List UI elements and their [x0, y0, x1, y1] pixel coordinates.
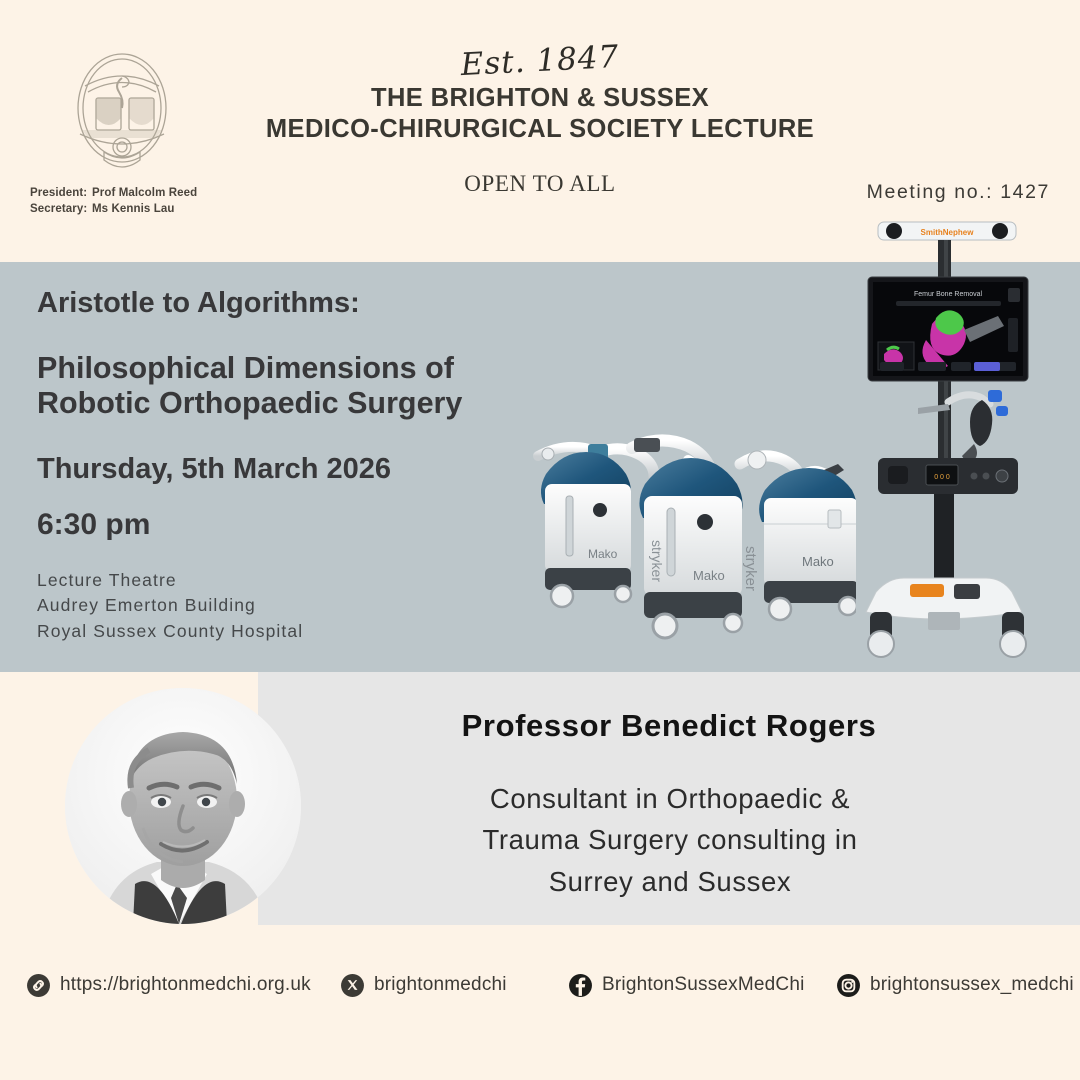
venue-line-3: Royal Sussex County Hospital	[37, 619, 537, 644]
lecture-poster: President: Prof Malcolm Reed Secretary: …	[0, 0, 1080, 1080]
society-line-1: THE BRIGHTON & SUSSEX	[260, 83, 820, 114]
facebook-label: BrightonSussexMedChi	[602, 974, 805, 996]
lecture-venue: Lecture Theatre Audrey Emerton Building …	[37, 568, 537, 644]
svg-text:Mako: Mako	[693, 568, 725, 583]
lecture-title-line-3: Robotic Orthopaedic Surgery	[37, 386, 537, 421]
society-title-block: Est. 1847 THE BRIGHTON & SUSSEX MEDICO-C…	[260, 46, 820, 197]
instagram-label: brightonsussex_medchi	[870, 974, 1074, 996]
website-link[interactable]: https://brightonmedchi.org.uk	[26, 973, 311, 998]
crest-block: President: Prof Malcolm Reed Secretary: …	[30, 42, 250, 218]
svg-text:Femur Bone Removal: Femur Bone Removal	[914, 291, 983, 298]
venue-line-1: Lecture Theatre	[37, 568, 537, 593]
officer-name: Ms Kennis Lau	[92, 202, 250, 218]
society-crest-icon	[52, 42, 192, 182]
officer-label: Secretary:	[30, 202, 92, 218]
officer-row: President: Prof Malcolm Reed	[30, 186, 250, 202]
meeting-number: Meeting no.: 1427	[867, 181, 1050, 204]
officer-name: Prof Malcolm Reed	[92, 186, 250, 202]
robotic-surgical-units-image: Mako Mako	[528, 418, 873, 672]
facebook-icon	[568, 973, 593, 998]
x-icon	[340, 973, 365, 998]
officer-row: Secretary: Ms Kennis Lau	[30, 202, 250, 218]
svg-text:Mako: Mako	[588, 547, 618, 561]
speaker-role: Consultant in Orthopaedic & Trauma Surge…	[300, 778, 1040, 902]
svg-text:SmithNephew: SmithNephew	[921, 228, 975, 237]
poster-footer: https://brightonmedchi.org.uk brightonme…	[0, 965, 1080, 1080]
navigation-tower-image: SmithNephew Femur Bone Removal	[856, 214, 1038, 672]
lecture-date: Thursday, 5th March 2026	[37, 453, 537, 486]
society-line-2: MEDICO-CHIRURGICAL SOCIETY LECTURE	[260, 114, 820, 145]
speaker-role-line-1: Consultant in Orthopaedic &	[300, 778, 1040, 819]
speaker-name: Professor Benedict Rogers	[258, 708, 1080, 744]
svg-text:stryker: stryker	[742, 546, 759, 591]
svg-text:Mako: Mako	[802, 554, 834, 569]
officer-label: President:	[30, 186, 92, 202]
venue-line-2: Audrey Emerton Building	[37, 593, 537, 618]
x-link[interactable]: brightonmedchi	[340, 973, 507, 998]
svg-text:stryker: stryker	[649, 540, 665, 582]
website-label: https://brightonmedchi.org.uk	[60, 974, 311, 996]
lecture-title-line-2: Philosophical Dimensions of	[37, 351, 537, 386]
link-icon	[26, 973, 51, 998]
open-to-all-text: OPEN TO ALL	[260, 171, 820, 197]
x-label: brightonmedchi	[374, 974, 507, 996]
facebook-link[interactable]: BrightonSussexMedChi	[568, 973, 805, 998]
lecture-time: 6:30 pm	[37, 508, 537, 542]
svg-text:0 0 0: 0 0 0	[934, 474, 950, 481]
lecture-details: Aristotle to Algorithms: Philosophical D…	[37, 286, 537, 644]
speaker-role-line-2: Trauma Surgery consulting in	[300, 819, 1040, 860]
officers-list: President: Prof Malcolm Reed Secretary: …	[30, 186, 250, 218]
instagram-link[interactable]: brightonsussex_medchi	[836, 973, 1074, 998]
speaker-role-line-3: Surrey and Sussex	[300, 861, 1040, 902]
lecture-title-line-1: Aristotle to Algorithms:	[37, 286, 537, 321]
instagram-icon	[836, 973, 861, 998]
